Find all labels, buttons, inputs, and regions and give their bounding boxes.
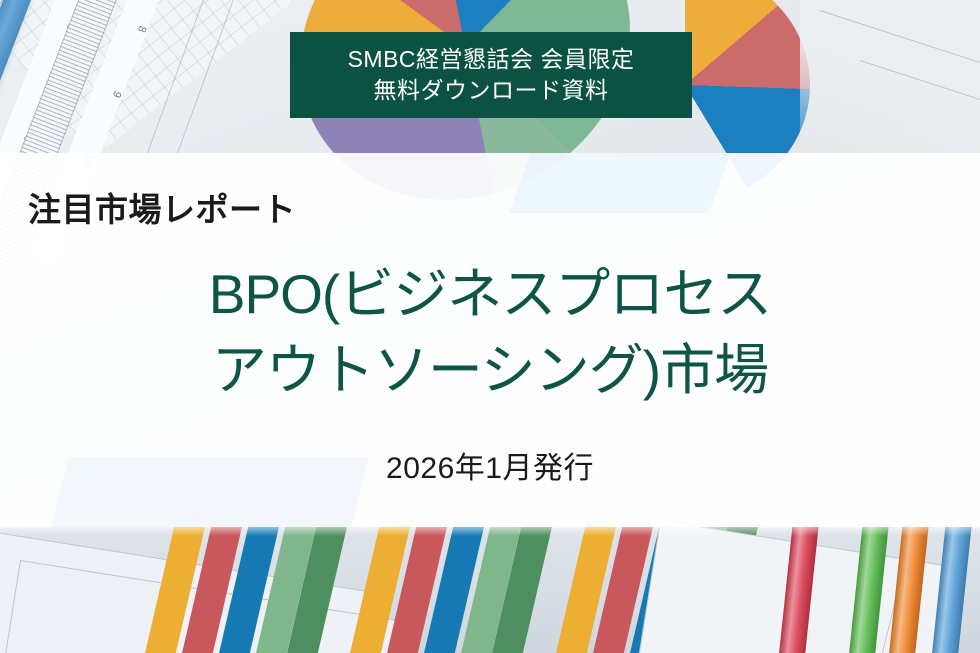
banner-line-1: SMBC経営懇話会 会員限定 — [348, 45, 635, 74]
bottom-photo-scene — [0, 520, 980, 653]
photo-highlight — [800, 0, 980, 160]
page-title-line-1: BPO(ビジネスプロセス — [0, 257, 980, 333]
page-title: BPO(ビジネスプロセス アウトソーシング)市場 — [0, 257, 980, 409]
ruler-tick-label: 8 — [135, 24, 148, 34]
cover-text-block: 注目市場レポート BPO(ビジネスプロセス アウトソーシング)市場 2026年1… — [0, 153, 980, 527]
report-cover: 5 6 7 8 7 8 9 10 — [0, 0, 980, 653]
banner-line-2: 無料ダウンロード資料 — [374, 76, 609, 105]
membership-banner: SMBC経営懇話会 会員限定 無料ダウンロード資料 — [290, 32, 692, 118]
publish-date: 2026年1月発行 — [0, 443, 980, 487]
page-title-line-2: アウトソーシング)市場 — [0, 333, 980, 409]
report-category-label: 注目市場レポート — [28, 183, 296, 231]
ruler-tick-label: 9 — [110, 89, 123, 99]
